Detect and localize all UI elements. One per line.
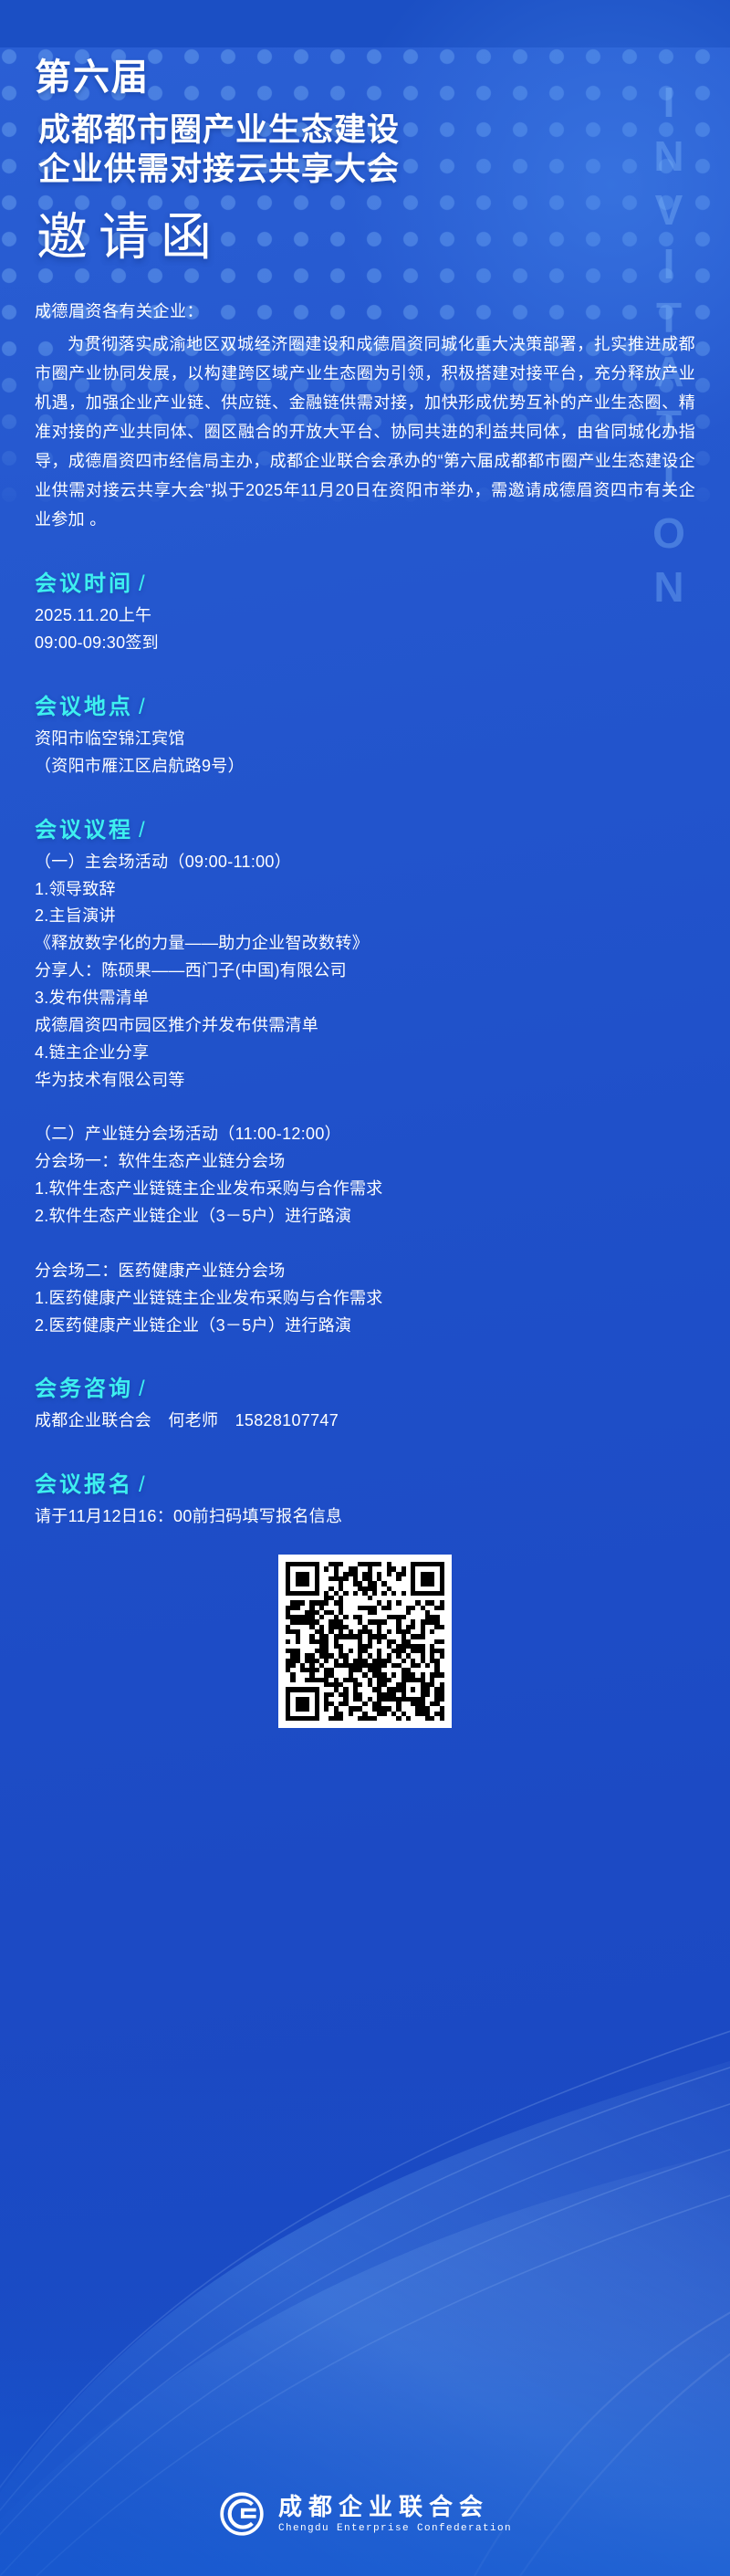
section-heading-meeting-agenda: 会议议程/ [35,812,695,843]
section-body-meeting-registration: 请于11月12日16：00前扫码填写报名信息 [35,1503,695,1531]
heading-slash-icon: / [139,1472,148,1497]
page-title: 成都都市圈产业生态建设 企业供需对接云共享大会 [38,111,695,189]
page-title-line-2: 企业供需对接云共享大会 [38,151,695,190]
qr-code-container [0,1555,730,1728]
poster-content: 第六届 成都都市圈产业生态建设 企业供需对接云共享大会 邀请函 成德眉资各有关企… [0,47,730,1531]
heading-slash-icon: / [139,818,148,843]
heading-slash-icon: / [139,1377,148,1401]
section-body-meeting-place: 资阳市临空锦江宾馆 （资阳市雁江区启航路9号） [35,726,695,780]
edition-kicker: 第六届 [35,47,695,100]
section-heading-text: 会议时间 [35,571,133,596]
section-heading-meeting-contact: 会务咨询/ [35,1370,695,1402]
section-heading-text: 会务咨询 [35,1377,133,1401]
section-body-meeting-agenda: （一）主会场活动（09:00-11:00） 1.领导致辞 2.主旨演讲 《释放数… [35,849,695,1340]
registration-qr-code[interactable] [278,1555,452,1728]
salutation: 成德眉资各有关企业： [35,298,695,322]
section-heading-meeting-place: 会议地点/ [35,688,695,720]
section-heading-text: 会议报名 [35,1472,133,1497]
heading-slash-icon: / [139,695,148,719]
footer-org-name-cn: 成都企业联合会 [278,2494,512,2521]
light-streak-decoration [0,1754,730,2576]
chengdu-enterprise-confederation-logo-icon [218,2490,266,2538]
heading-slash-icon: / [139,571,148,596]
section-heading-text: 会议议程 [35,818,133,843]
section-meeting-place: 会议地点/ 资阳市临空锦江宾馆 （资阳市雁江区启航路9号） [35,688,695,780]
letter-body: 为贯彻落实成渝地区双城经济圈建设和成德眉资同城化重大决策部署，扎实推进成都市圈产… [35,330,695,534]
section-meeting-contact: 会务咨询/ 成都企业联合会 何老师 15828107747 [35,1370,695,1435]
section-body-meeting-contact: 成都企业联合会 何老师 15828107747 [35,1408,695,1435]
page-title-line-1: 成都都市圈产业生态建设 [38,111,695,151]
section-meeting-time: 会议时间/ 2025.11.20上午 09:00-09:30签到 [35,565,695,657]
section-heading-text: 会议地点 [35,695,133,719]
footer-org-name-en: Chengdu Enterprise Confederation [278,2523,512,2534]
section-meeting-registration: 会议报名/ 请于11月12日16：00前扫码填写报名信息 [35,1466,695,1531]
section-meeting-agenda: 会议议程/ （一）主会场活动（09:00-11:00） 1.领导致辞 2.主旨演… [35,812,695,1340]
footer-logo-block: 成都企业联合会 Chengdu Enterprise Confederation [0,2490,730,2538]
invitation-heading: 邀请函 [36,211,695,267]
section-heading-meeting-time: 会议时间/ [35,565,695,597]
section-heading-meeting-registration: 会议报名/ [35,1466,695,1498]
section-body-meeting-time: 2025.11.20上午 09:00-09:30签到 [35,602,695,657]
